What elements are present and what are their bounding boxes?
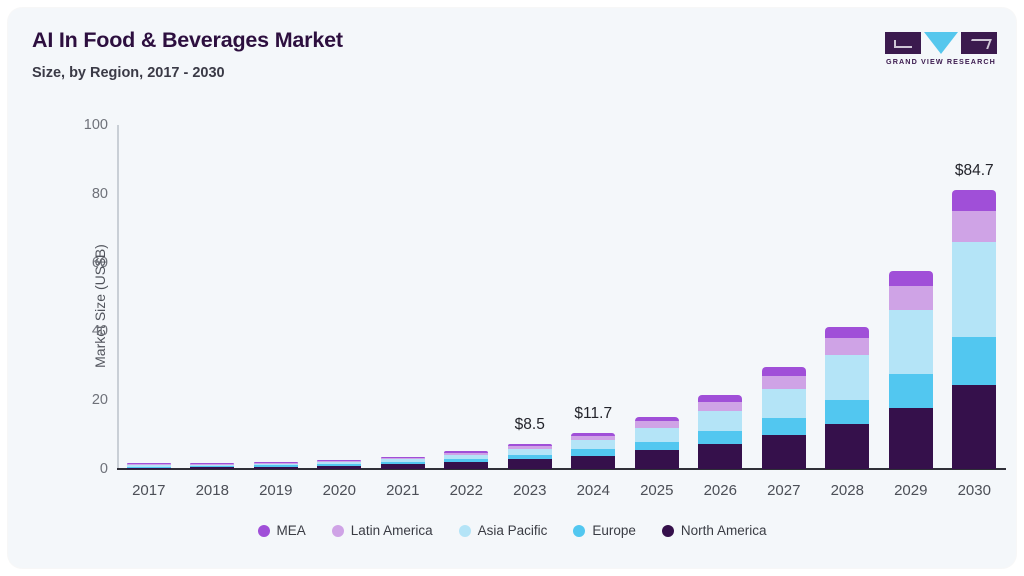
bar-segment-2028-latin-america[interactable] [825, 338, 869, 355]
logo-triangle-icon [924, 32, 958, 54]
legend-item-asia-pacific[interactable]: Asia Pacific [459, 523, 548, 538]
bar-2021[interactable] [381, 457, 425, 469]
value-label-2023: $8.5 [515, 416, 545, 434]
chart-legend: MEALatin AmericaAsia PacificEuropeNorth … [8, 523, 1016, 538]
logo-right-glyph-icon [968, 39, 992, 49]
legend-swatch-icon [258, 525, 270, 537]
legend-swatch-icon [459, 525, 471, 537]
page-title: AI In Food & Beverages Market [32, 28, 343, 53]
legend-swatch-icon [573, 525, 585, 537]
legend-item-europe[interactable]: Europe [573, 523, 636, 538]
legend-item-north-america[interactable]: North America [662, 523, 767, 538]
bar-segment-2030-north-america[interactable] [952, 385, 996, 469]
bar-segment-2027-europe[interactable] [762, 418, 806, 435]
legend-item-mea[interactable]: MEA [258, 523, 306, 538]
x-tick-2017: 2017 [132, 482, 165, 499]
bar-segment-2030-asia-pacific[interactable] [952, 242, 996, 337]
bar-2028[interactable] [825, 327, 869, 469]
x-tick-2030: 2030 [958, 482, 991, 499]
y-tick-100: 100 [28, 117, 108, 133]
legend-label: MEA [277, 523, 306, 538]
bar-segment-2026-europe[interactable] [698, 431, 742, 443]
bar-segment-2026-asia-pacific[interactable] [698, 411, 742, 431]
x-tick-2023: 2023 [513, 482, 546, 499]
bar-segment-2028-asia-pacific[interactable] [825, 355, 869, 399]
x-tick-2028: 2028 [831, 482, 864, 499]
bar-segment-2030-europe[interactable] [952, 337, 996, 384]
bar-2030[interactable] [952, 190, 996, 469]
logo-left-glyph-icon [894, 40, 912, 48]
y-tick-20: 20 [28, 392, 108, 408]
bar-segment-2025-north-america[interactable] [635, 450, 679, 469]
bar-segment-2025-europe[interactable] [635, 442, 679, 451]
y-tick-60: 60 [28, 255, 108, 271]
plot-area [117, 125, 1006, 469]
bar-segment-2020-north-america[interactable] [317, 466, 361, 469]
logo-wordmark: GRAND VIEW RESEARCH [885, 57, 997, 66]
bar-segment-2029-asia-pacific[interactable] [889, 310, 933, 374]
x-tick-2022: 2022 [450, 482, 483, 499]
bar-segment-2025-asia-pacific[interactable] [635, 428, 679, 442]
bar-segment-2021-north-america[interactable] [381, 464, 425, 469]
bar-segment-2024-asia-pacific[interactable] [571, 440, 615, 449]
bar-segment-2028-north-america[interactable] [825, 424, 869, 469]
bar-segment-2018-north-america[interactable] [190, 467, 234, 469]
bar-segment-2029-mea[interactable] [889, 271, 933, 287]
bar-segment-2026-north-america[interactable] [698, 444, 742, 469]
bar-2024[interactable] [571, 433, 615, 469]
y-tick-80: 80 [28, 186, 108, 202]
bar-segment-2027-asia-pacific[interactable] [762, 389, 806, 419]
legend-swatch-icon [332, 525, 344, 537]
grand-view-research-logo: GRAND VIEW RESEARCH [885, 32, 997, 68]
x-tick-2018: 2018 [196, 482, 229, 499]
legend-swatch-icon [662, 525, 674, 537]
bar-segment-2029-latin-america[interactable] [889, 286, 933, 309]
bar-2018[interactable] [190, 463, 234, 469]
bar-2023[interactable] [508, 444, 552, 469]
bar-segment-2029-europe[interactable] [889, 374, 933, 408]
bar-segment-2027-latin-america[interactable] [762, 376, 806, 389]
x-tick-2021: 2021 [386, 482, 419, 499]
logo-mark [885, 32, 997, 54]
legend-label: North America [681, 523, 767, 538]
bar-segment-2022-north-america[interactable] [444, 462, 488, 469]
legend-item-latin-america[interactable]: Latin America [332, 523, 433, 538]
x-tick-2029: 2029 [894, 482, 927, 499]
bar-segment-2019-north-america[interactable] [254, 467, 298, 469]
legend-label: Asia Pacific [478, 523, 548, 538]
x-tick-2019: 2019 [259, 482, 292, 499]
chart-card: AI In Food & Beverages Market Size, by R… [8, 8, 1016, 568]
bar-segment-2027-mea[interactable] [762, 367, 806, 376]
y-axis-ticks: 100806040200 [22, 125, 108, 469]
bar-2022[interactable] [444, 451, 488, 469]
bar-segment-2029-north-america[interactable] [889, 408, 933, 469]
value-label-2024: $11.7 [574, 405, 612, 423]
bar-segment-2030-mea[interactable] [952, 190, 996, 211]
y-tick-0: 0 [28, 461, 108, 477]
bar-2026[interactable] [698, 395, 742, 469]
bar-segment-2017-north-america[interactable] [127, 468, 171, 469]
x-tick-2027: 2027 [767, 482, 800, 499]
legend-label: Europe [592, 523, 636, 538]
bar-segment-2023-north-america[interactable] [508, 459, 552, 469]
bar-2020[interactable] [317, 460, 361, 469]
bar-segment-2024-north-america[interactable] [571, 456, 615, 469]
bar-2027[interactable] [762, 367, 806, 469]
x-tick-2025: 2025 [640, 482, 673, 499]
x-tick-2024: 2024 [577, 482, 610, 499]
x-tick-2026: 2026 [704, 482, 737, 499]
bar-segment-2028-mea[interactable] [825, 327, 869, 339]
legend-label: Latin America [351, 523, 433, 538]
bar-segment-2027-north-america[interactable] [762, 435, 806, 469]
bar-segment-2028-europe[interactable] [825, 400, 869, 424]
page-subtitle: Size, by Region, 2017 - 2030 [32, 65, 225, 81]
bar-segment-2026-latin-america[interactable] [698, 402, 742, 411]
bar-2029[interactable] [889, 271, 933, 469]
x-tick-2020: 2020 [323, 482, 356, 499]
bar-segment-2030-latin-america[interactable] [952, 211, 996, 243]
bar-2017[interactable] [127, 463, 171, 469]
bar-2025[interactable] [635, 417, 679, 469]
bar-2019[interactable] [254, 462, 298, 469]
y-tick-40: 40 [28, 323, 108, 339]
value-label-2030: $84.7 [955, 162, 994, 180]
